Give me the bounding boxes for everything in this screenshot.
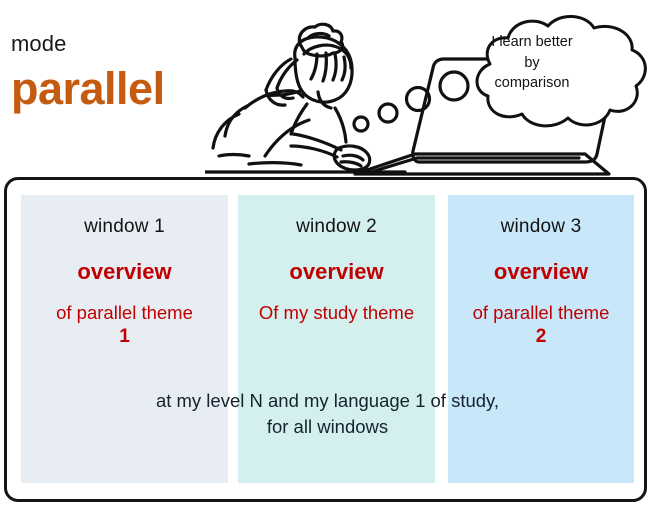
windows-frame: window 1 overview of parallel theme 1 wi… [4, 177, 647, 502]
thought-bubble-line-2: by [462, 53, 602, 74]
window-panel-1[interactable]: window 1 overview of parallel theme 1 [21, 195, 228, 483]
window-panels-container: window 1 overview of parallel theme 1 wi… [7, 180, 644, 499]
window-panel-1-title: window 1 [21, 217, 228, 238]
window-panel-2-heading: overview [238, 260, 435, 284]
window-panel-2-title: window 2 [238, 217, 435, 238]
thought-bubble-text: I learn better by comparison [462, 32, 602, 94]
thought-bubble-line-3: comparison [462, 73, 602, 94]
window-panel-3-subtitle: of parallel theme [448, 301, 634, 325]
mode-value: parallel [11, 66, 165, 111]
window-panel-1-number: 1 [21, 325, 228, 349]
window-panel-3-title: window 3 [448, 217, 634, 238]
window-panel-1-subtitle: of parallel theme [21, 301, 228, 325]
header-area: mode parallel [0, 0, 656, 178]
window-panel-2-subtitle: Of my study theme [238, 301, 435, 325]
window-panel-1-heading: overview [21, 260, 228, 284]
mode-label: mode [11, 33, 66, 55]
window-panel-3-heading: overview [448, 260, 634, 284]
window-panel-3[interactable]: window 3 overview of parallel theme 2 [448, 195, 634, 483]
window-panel-2[interactable]: window 2 overview Of my study theme [238, 195, 435, 483]
window-panel-3-number: 2 [448, 325, 634, 349]
thought-bubble-line-1: I learn better [462, 32, 602, 53]
